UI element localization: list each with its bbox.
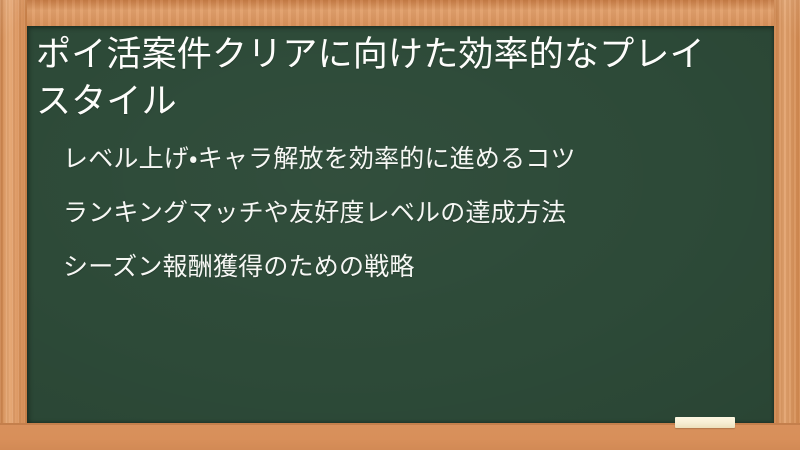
bullet-list: レベル上げ・キャラ解放を効率的に進めるコツ ランキングマッチや友好度レベルの達成… bbox=[33, 147, 752, 280]
chalk-stick bbox=[675, 417, 735, 428]
list-item: ランキングマッチや友好度レベルの達成方法 bbox=[63, 201, 752, 226]
chalkboard-slide: ポイ活案件クリアに向けた効率的なプレイスタイル レベル上げ・キャラ解放を効率的に… bbox=[0, 0, 800, 450]
chalkboard-surface: ポイ活案件クリアに向けた効率的なプレイスタイル レベル上げ・キャラ解放を効率的に… bbox=[27, 26, 774, 423]
list-item: シーズン報酬獲得のための戦略 bbox=[63, 255, 752, 280]
frame-rail-right bbox=[774, 0, 800, 450]
frame-rail-top bbox=[0, 0, 800, 26]
frame-rail-left bbox=[0, 0, 27, 450]
list-item: レベル上げ・キャラ解放を効率的に進めるコツ bbox=[63, 147, 752, 172]
slide-content: ポイ活案件クリアに向けた効率的なプレイスタイル レベル上げ・キャラ解放を効率的に… bbox=[27, 26, 774, 423]
slide-title: ポイ活案件クリアに向けた効率的なプレイスタイル bbox=[33, 32, 752, 125]
